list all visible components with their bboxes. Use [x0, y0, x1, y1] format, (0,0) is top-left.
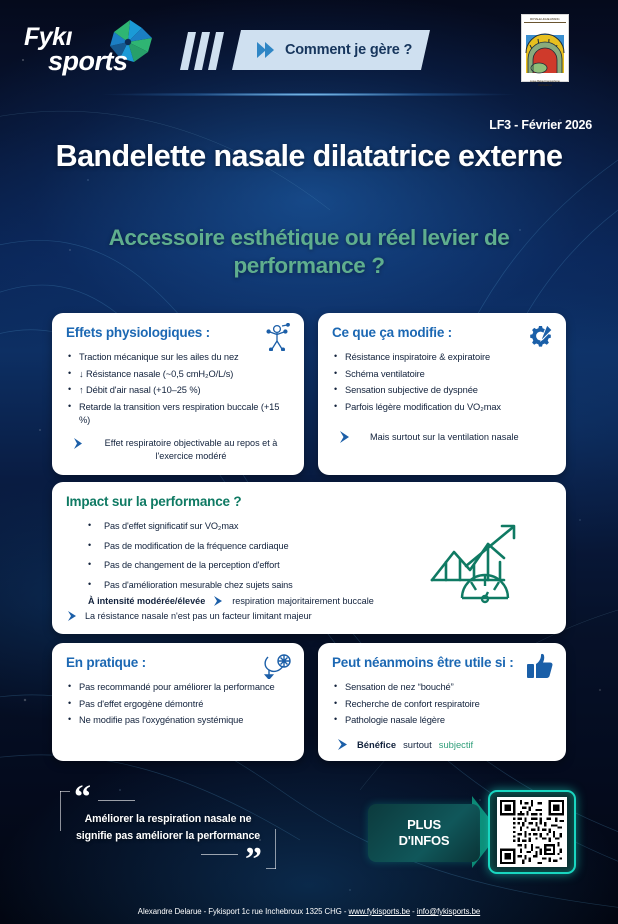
chevron-right-icon: [336, 738, 350, 751]
card-impact-line2-text: La résistance nasale n'est pas un facteu…: [85, 611, 312, 621]
list-item: Sensation subjective de dyspnée: [332, 384, 552, 398]
list-item: ↓ Résistance nasale (~0,5 cmH₂O/L/s): [66, 368, 290, 382]
card-utile-heading: Peut néanmoins être utile si :: [332, 655, 552, 670]
footer-author: Alexandre Delarue - Fykisport 1c rue Inc…: [138, 907, 349, 916]
card-ce-que-ca-modifie: Ce que ça modifie : Résistance inspirato…: [318, 313, 566, 475]
quote-close-mark: ”: [245, 841, 262, 879]
section-banner-plate[interactable]: Comment je gère ?: [232, 30, 430, 70]
card-impact-line1: À intensité modérée/élevée respiration m…: [66, 595, 486, 607]
card-modifie-heading: Ce que ça modifie :: [332, 325, 552, 340]
thumbs-up-icon: [526, 653, 554, 679]
brand-logo-word2: sports: [48, 46, 128, 77]
page-subtitle: Accessoire esthétique ou réel levier de …: [40, 224, 578, 280]
card-en-pratique: En pratique : Pas recommandé pour amélio…: [52, 643, 304, 761]
section-banner-label: Comment je gère ?: [285, 42, 412, 58]
card-physio-conclusion-text: Effet respiratoire objectivable au repos…: [93, 437, 289, 463]
list-item: Sensation de nez “bouché”: [332, 681, 552, 695]
list-item: Résistance inspiratoire & expiratoire: [332, 351, 552, 365]
quote-bracket-left: [60, 791, 61, 831]
card-peut-etre-utile: Peut néanmoins être utile si : Sensation…: [318, 643, 566, 761]
list-item: ↑ Débit d'air nasal (+10–25 %): [66, 384, 290, 398]
cta-label[interactable]: PLUS D'INFOS: [368, 804, 480, 862]
card-impact-line1-b: respiration majoritairement buccale: [232, 596, 374, 606]
list-item: Pas d'effet ergogène démontré: [66, 698, 290, 712]
slashes-icon: [180, 32, 226, 70]
issue-label: LF3 - Février 2026: [489, 118, 592, 132]
card-utile-conclusion-c: subjectif: [439, 739, 473, 750]
cta-qr-block[interactable]: PLUS D'INFOS: [368, 790, 576, 874]
cta-line1: PLUS: [407, 817, 441, 833]
bar-chart-gauge-icon: [426, 518, 526, 606]
card-effets-physiologiques: Effets physiologiques : Traction mécaniq…: [52, 313, 304, 475]
header: Fykı sports Comment je gère ? ROYALE LI: [0, 0, 618, 96]
quote-text: Améliorer la respiration nasale ne signi…: [68, 811, 268, 845]
card-pratique-bullets: Pas recommandé pour améliorer la perform…: [66, 681, 290, 728]
card-impact-performance: Impact sur la performance ? Pas d'effet …: [52, 482, 566, 634]
lungs-stethoscope-icon: [262, 653, 292, 679]
partner-logo-bottom-text: Ligue Belge Francophone d'Athlétisme: [524, 80, 566, 86]
chevron-right-icon: [66, 610, 79, 622]
quote-rule-bottom: [201, 854, 238, 855]
partner-logo-emblem-icon: [524, 23, 566, 75]
card-utile-conclusion-b: surtout: [403, 739, 432, 750]
footer-website-link[interactable]: www.fykisports.be: [349, 907, 411, 916]
list-item: Recherche de confort respiratoire: [332, 698, 552, 712]
list-item: Pas recommandé pour améliorer la perform…: [66, 681, 290, 695]
chevron-right-icon: [338, 430, 352, 444]
quote-bracket-right: [275, 829, 276, 869]
qr-frame[interactable]: [488, 790, 576, 874]
cta-line2: D'INFOS: [399, 833, 450, 849]
card-impact-heading: Impact sur la performance ?: [66, 494, 552, 509]
page-title: Bandelette nasale dilatatrice externe: [30, 138, 588, 174]
footer: Alexandre Delarue - Fykisport 1c rue Inc…: [0, 907, 618, 916]
card-physio-bullets: Traction mécanique sur les ailes du nez …: [66, 351, 290, 428]
card-physio-heading: Effets physiologiques :: [66, 325, 290, 340]
card-utile-conclusion-a: Bénéfice: [357, 739, 396, 750]
card-modifie-bullets: Résistance inspiratoire & expiratoire Sc…: [332, 351, 552, 414]
card-impact-line1-a: À intensité modérée/élevée: [88, 596, 205, 606]
play-double-icon: [256, 41, 276, 59]
list-item: Schéma ventilatoire: [332, 368, 552, 382]
card-modifie-conclusion: Mais surtout sur la ventilation nasale: [332, 430, 552, 444]
person-running-icon: [262, 323, 292, 351]
card-impact-line2: La résistance nasale n'est pas un facteu…: [66, 610, 486, 622]
card-physio-conclusion: Effet respiratoire objectivable au repos…: [66, 437, 290, 463]
list-item: Ne modifie pas l'oxygénation systémique: [66, 714, 290, 728]
section-banner: Comment je gère ?: [180, 30, 430, 70]
quote-rule-top: [98, 800, 135, 801]
footer-separator: -: [410, 907, 417, 916]
brand-logo[interactable]: Fykı sports: [22, 22, 152, 80]
card-utile-bullets: Sensation de nez “bouché” Recherche de c…: [332, 681, 552, 728]
poster-root: Fykı sports Comment je gère ? ROYALE LI: [0, 0, 618, 924]
list-item: Pathologie nasale légère: [332, 714, 552, 728]
list-item: Retarde la transition vers respiration b…: [66, 401, 290, 428]
card-impact-conclusions: À intensité modérée/élevée respiration m…: [66, 595, 486, 622]
footer-email-link[interactable]: info@fykisports.be: [417, 907, 480, 916]
card-modifie-conclusion-text: Mais surtout sur la ventilation nasale: [370, 432, 519, 442]
list-item: Traction mécanique sur les ailes du nez: [66, 351, 290, 365]
partner-logo: ROYALE LIGUE ASSOC. Ligue Belge Francoph…: [521, 14, 569, 82]
gear-pencil-icon: [528, 323, 554, 349]
quote-block: “ Améliorer la respiration nasale ne sig…: [52, 783, 284, 875]
card-utile-conclusion: Bénéfice surtout subjectif: [332, 738, 552, 751]
list-item: Parfois légère modification du VO₂max: [332, 401, 552, 415]
qr-code-icon[interactable]: [497, 797, 567, 867]
chevron-right-icon: [212, 595, 225, 607]
card-pratique-heading: En pratique :: [66, 655, 290, 670]
chevron-right-icon: [72, 437, 86, 450]
